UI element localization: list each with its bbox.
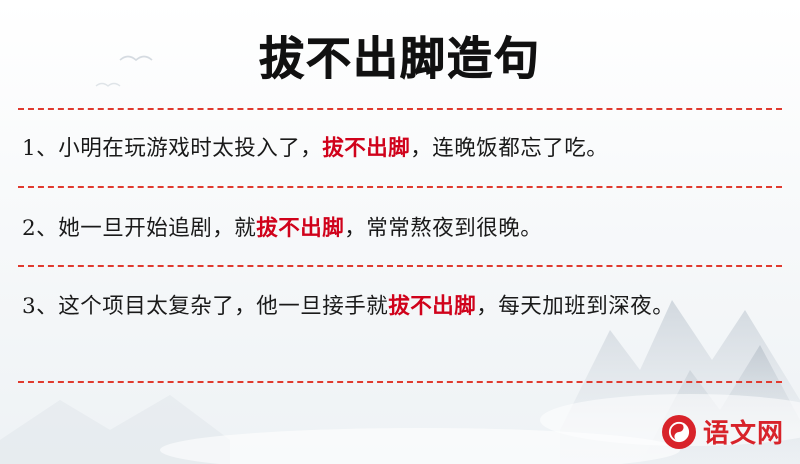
sentence-keyword-2: 拔不出脚: [256, 216, 344, 241]
sentence-text-before-1: 小明在玩游戏时太投入了，: [58, 136, 322, 161]
site-logo: 语文网: [662, 413, 784, 450]
divider-between-1-2: [18, 186, 782, 188]
divider-between-2-3: [18, 265, 782, 267]
sentence-item-1: 1、小明在玩游戏时太投入了，拔不出脚，连晚饭都忘了吃。: [22, 130, 778, 168]
logo-swirl-icon: [662, 415, 696, 449]
sentence-text-after-2: ，常常熬夜到很晚。: [344, 216, 542, 241]
worksheet-page: 拔不出脚造句 1、小明在玩游戏时太投入了，拔不出脚，连晚饭都忘了吃。 2、她一旦…: [0, 0, 800, 464]
logo-text: 语文网: [703, 413, 784, 450]
sentence-index-2: 2、: [22, 216, 58, 241]
sentence-item-2: 2、她一旦开始追剧，就拔不出脚，常常熬夜到很晚。: [22, 210, 778, 248]
divider-bottom: [18, 381, 782, 383]
sentence-keyword-1: 拔不出脚: [322, 136, 410, 161]
sentence-item-3: 3、这个项目太复杂了，他一旦接手就拔不出脚，每天加班到深夜。: [22, 288, 778, 326]
sentence-text-before-3: 这个项目太复杂了，他一旦接手就: [58, 294, 388, 319]
divider-top: [18, 108, 782, 110]
sentence-text-before-2: 她一旦开始追剧，就: [58, 216, 256, 241]
sentence-text-after-3: ，每天加班到深夜。: [476, 294, 674, 319]
sentence-text-after-1: ，连晚饭都忘了吃。: [410, 136, 608, 161]
page-title: 拔不出脚造句: [0, 22, 800, 87]
sentence-index-1: 1、: [22, 136, 58, 161]
sentence-keyword-3: 拔不出脚: [388, 294, 476, 319]
sentence-index-3: 3、: [22, 294, 58, 319]
